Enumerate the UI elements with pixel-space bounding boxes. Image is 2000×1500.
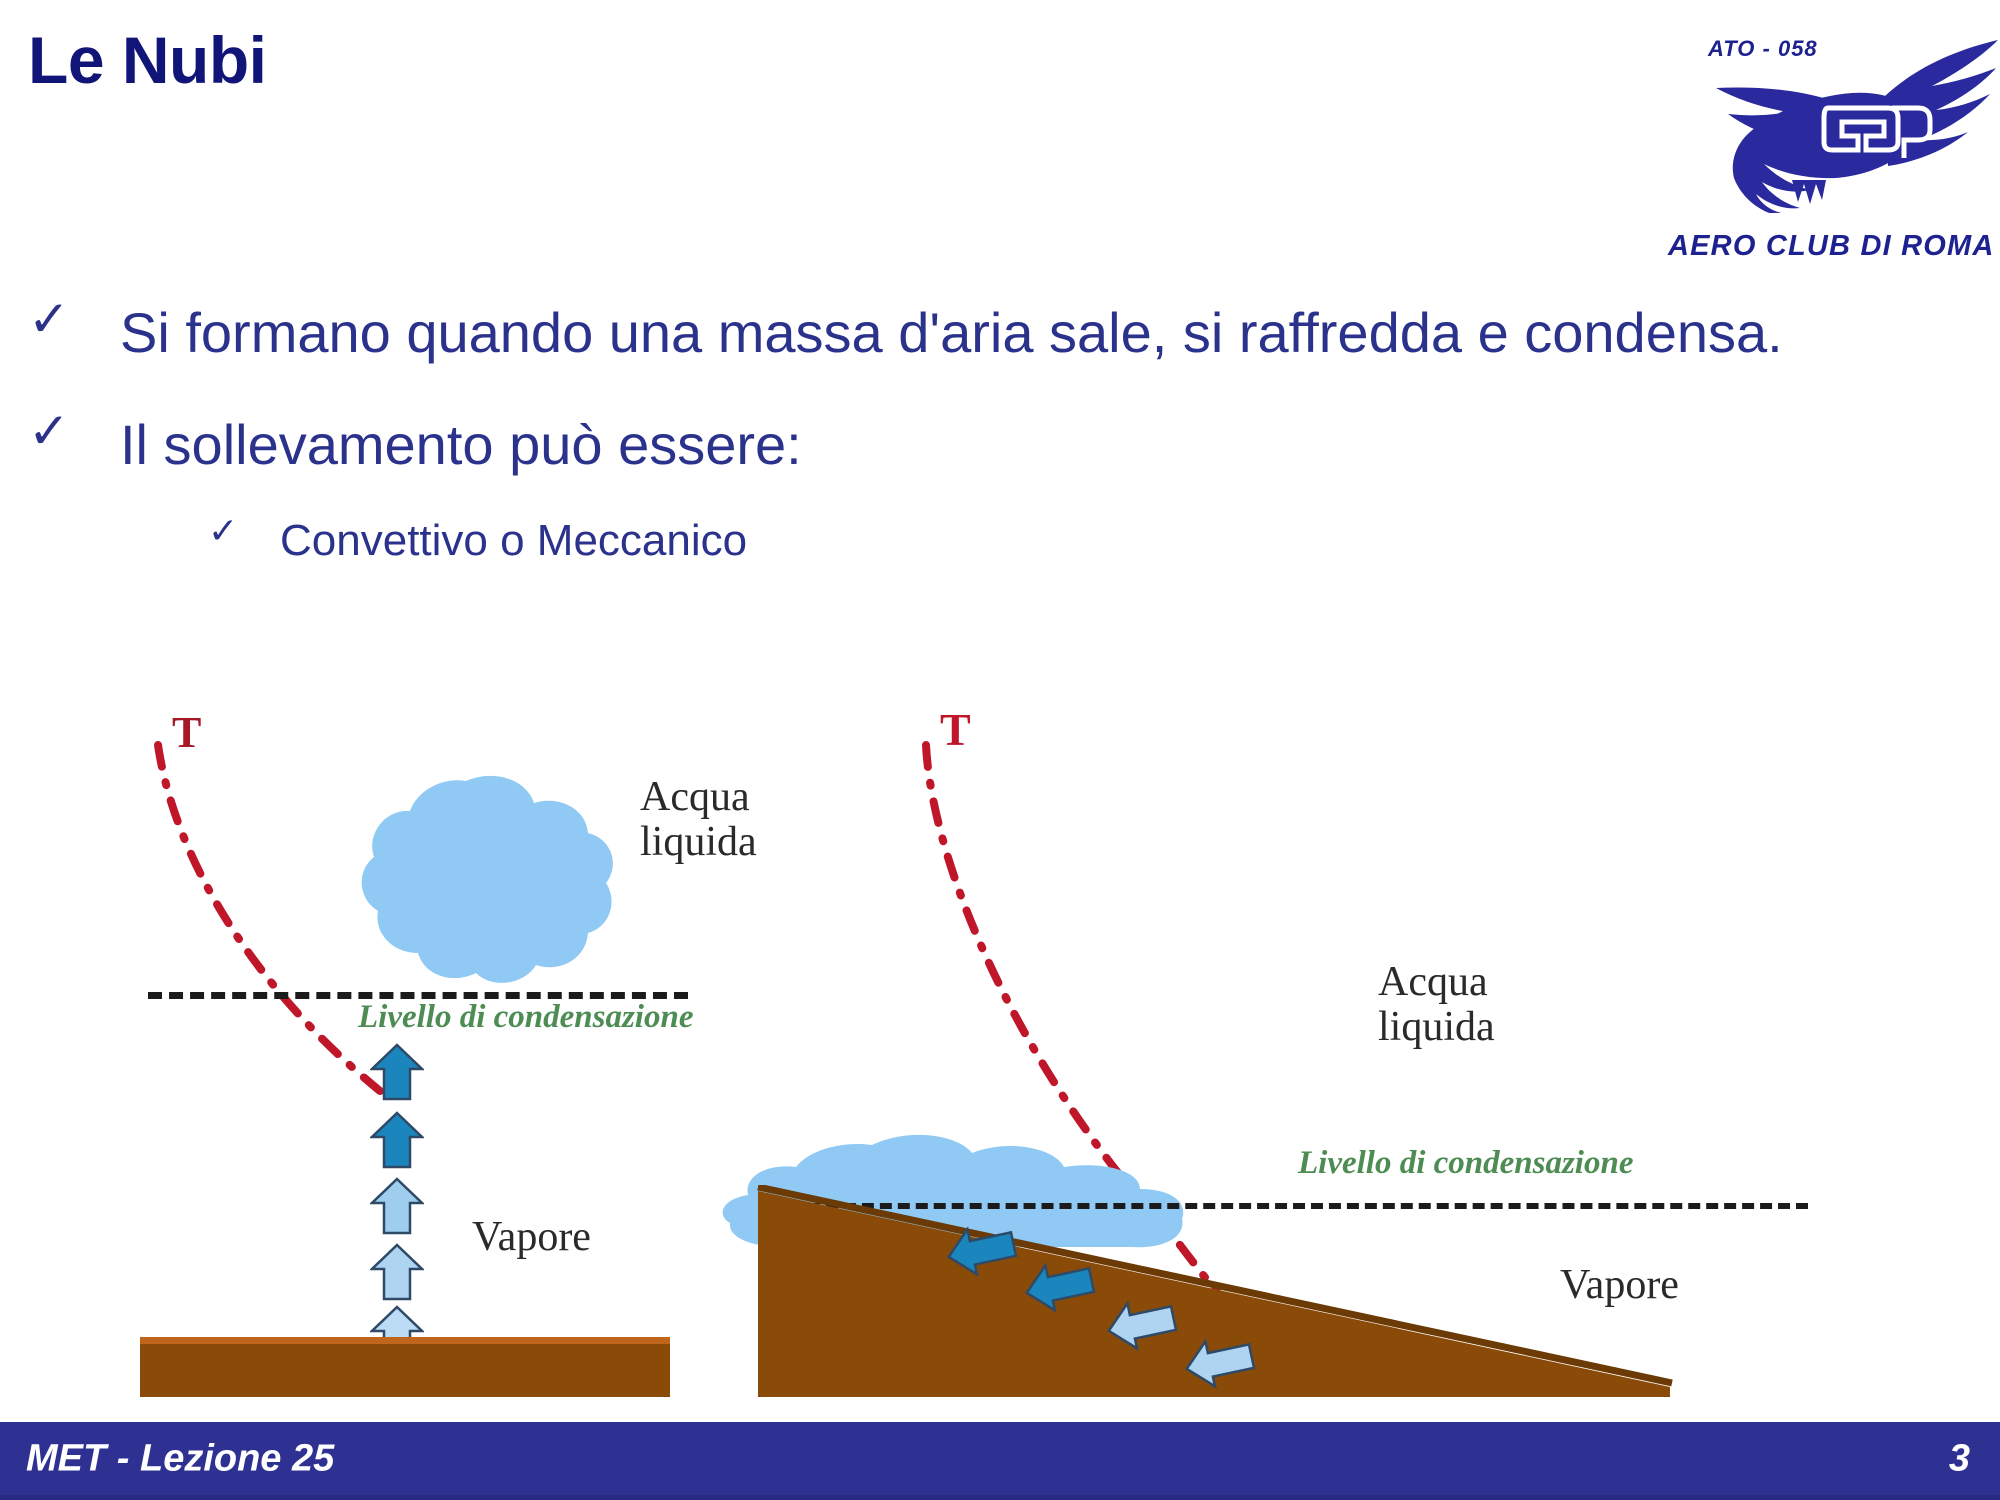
check-icon: ✓ (28, 294, 70, 344)
eagle-icon (1680, 38, 2000, 213)
check-icon: ✓ (28, 406, 70, 456)
water-liquid-label: Acqua liquida (640, 775, 757, 864)
vapour-label: Vapore (472, 1215, 591, 1260)
slide-footer: MET - Lezione 25 3 (0, 1422, 2000, 1500)
check-icon: ✓ (208, 513, 238, 549)
page-title: Le Nubi (28, 22, 267, 98)
condensation-line (148, 992, 688, 999)
diagram-mechanical: T Acqua liquida Livello di condensazione (880, 715, 2000, 1375)
page-number: 3 (1949, 1437, 1970, 1480)
vapour-arrow (370, 1177, 424, 1235)
water-liquid-label: Acqua liquida (1378, 960, 1495, 1049)
vapour-arrow (370, 1111, 424, 1169)
bullet-text: Il sollevamento può essere: (120, 412, 1960, 478)
cloud-shape (348, 773, 618, 988)
bullet-text: Convettivo o Meccanico (280, 516, 747, 565)
bullet-list: ✓ Si formano quando una massa d'aria sal… (0, 300, 2000, 568)
slide: Le Nubi ATO - 058 AERO CLUB DI ROMA (0, 0, 2000, 1500)
diagram-convective: T Acqua liquida Livello di condensazione (130, 715, 850, 1375)
vapour-arrow (370, 1243, 424, 1301)
condensation-level-label: Livello di condensazione (1298, 1145, 1633, 1182)
bullet-item-3: ✓ Convettivo o Meccanico (0, 515, 2000, 568)
bullet-item-2: ✓ Il sollevamento può essere: (0, 412, 2000, 478)
bullet-item-1: ✓ Si formano quando una massa d'aria sal… (0, 300, 2000, 366)
club-name-label: AERO CLUB DI ROMA (1668, 230, 1995, 263)
vapour-arrow (370, 1043, 424, 1101)
footer-lesson-label: MET - Lezione 25 (26, 1437, 334, 1480)
ground-flat (140, 1337, 670, 1397)
vapour-label: Vapore (1560, 1263, 1679, 1308)
condensation-level-label: Livello di condensazione (358, 999, 693, 1036)
aero-club-logo: ATO - 058 AERO CLUB DI ROMA (1500, 18, 2000, 268)
bullet-text: Si formano quando una massa d'aria sale,… (120, 300, 1960, 366)
